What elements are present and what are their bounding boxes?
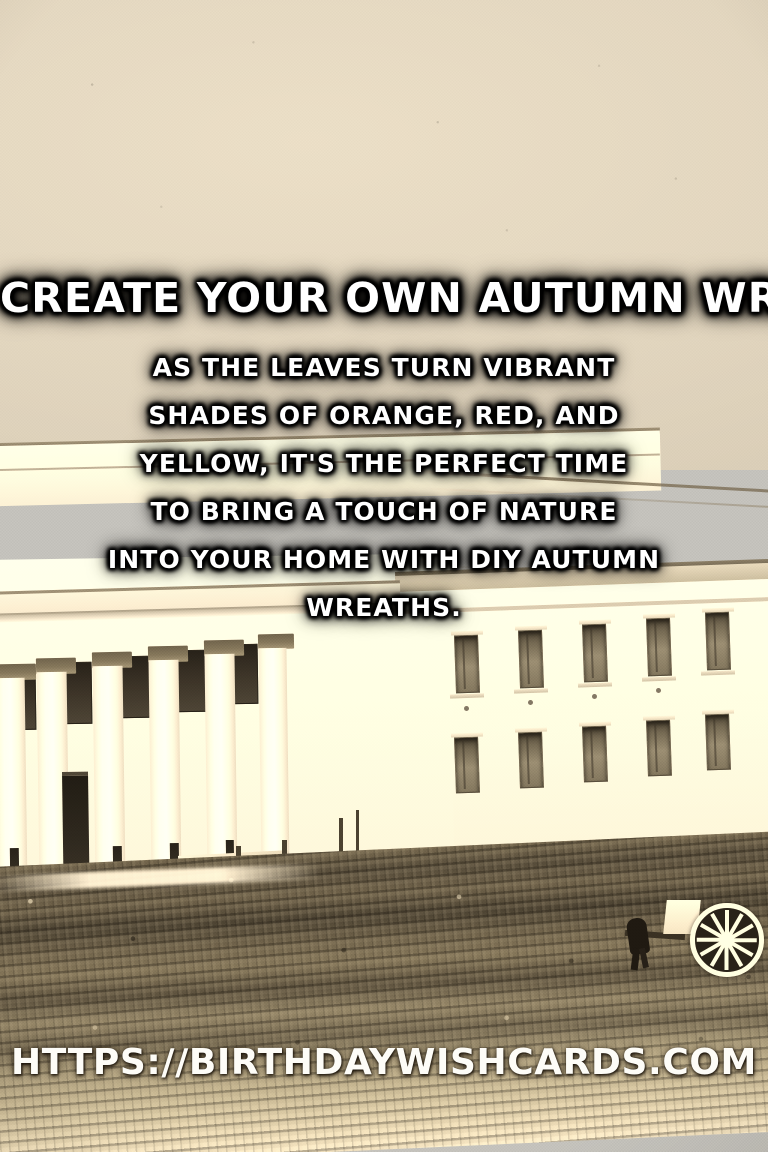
body-text-line: TO BRING A TOUCH OF NATURE <box>0 488 768 536</box>
footer-website-url: HTTPS://BIRTHDAYWISHCARDS.COM <box>0 1041 768 1085</box>
body-text-line: SHADES OF ORANGE, RED, AND <box>0 392 768 440</box>
text-overlay: CREATE YOUR OWN AUTUMN WREATH AS THE LEA… <box>0 0 768 1152</box>
poster-canvas: CREATE YOUR OWN AUTUMN WREATH AS THE LEA… <box>0 0 768 1152</box>
page-title: CREATE YOUR OWN AUTUMN WREATH <box>0 276 768 320</box>
body-text-line: WREATHS. <box>0 584 768 632</box>
body-text-line: AS THE LEAVES TURN VIBRANT <box>0 344 768 392</box>
body-text-line: INTO YOUR HOME WITH DIY AUTUMN <box>0 536 768 584</box>
body-text-line: YELLOW, IT'S THE PERFECT TIME <box>0 440 768 488</box>
body-text-block: AS THE LEAVES TURN VIBRANT SHADES OF ORA… <box>0 344 768 632</box>
